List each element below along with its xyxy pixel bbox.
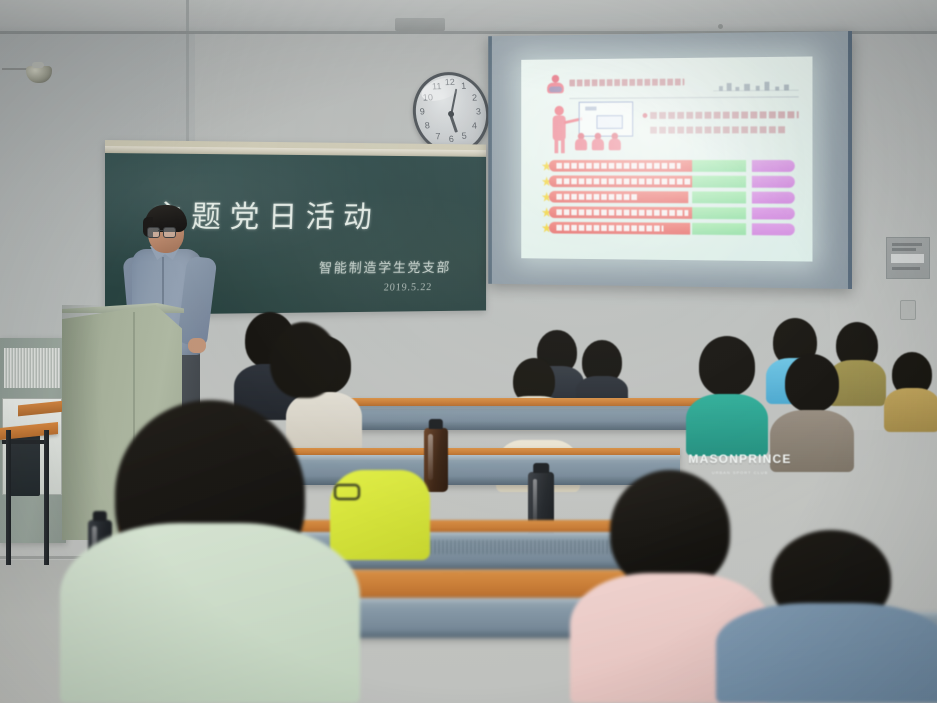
slide-body-paragraph [643, 110, 799, 138]
slide-bullet-icon [643, 113, 648, 118]
star-icon [542, 223, 552, 234]
slide-row [542, 191, 795, 204]
clock-numeral-7: 7 [435, 132, 441, 141]
projection-screen-surface [521, 56, 812, 261]
slide-bar-rows [542, 160, 795, 241]
blackboard-signature: 智能制造学生党支部 [318, 258, 451, 278]
slide-whiteboard-icon [579, 101, 633, 136]
ceiling-duct [395, 18, 445, 31]
wall-socket-icon [900, 300, 916, 320]
classroom-photo: 12 1 2 3 4 5 6 7 8 9 10 11 主题党日活动 智能制造学生… [0, 0, 937, 703]
projection-screen-surround [488, 31, 852, 289]
slide-body-line-2 [650, 126, 785, 133]
cabinet-vent [4, 348, 60, 388]
people-group-icon [547, 75, 564, 94]
student-mustard [884, 352, 937, 432]
clock-hour-hand [449, 115, 458, 133]
clock-numeral-8: 8 [425, 121, 431, 130]
clock-center-pin [448, 111, 454, 117]
star-icon [542, 207, 552, 218]
presentation-slide [534, 71, 799, 248]
student-teal-print [686, 336, 768, 456]
student-front-mint [60, 400, 360, 703]
clock-numeral-12: 12 [445, 78, 456, 87]
star-icon [542, 161, 552, 172]
slide-audience-icon [575, 133, 628, 151]
skyline-decoration-icon [713, 82, 798, 97]
presenter-glasses-icon [147, 227, 174, 236]
ceiling [0, 0, 937, 34]
presenter-right-hand [188, 338, 206, 353]
clock-numeral-5: 5 [461, 132, 467, 141]
slide-row [542, 160, 795, 172]
tshirt-print-masonprince: MASONPRINCE [688, 452, 791, 466]
clock-numeral-2: 2 [472, 94, 478, 103]
blackboard-date: 2019.5.22 [383, 281, 432, 293]
side-desk-leg [44, 430, 49, 565]
slide-row [542, 175, 795, 187]
clock-numeral-3: 3 [476, 107, 482, 116]
slide-row [542, 222, 795, 236]
clock-numeral-1: 1 [461, 82, 467, 91]
clock-numeral-4: 4 [472, 122, 478, 131]
wall-notice-panel [886, 237, 930, 279]
slide-divider [569, 96, 798, 99]
star-icon [542, 176, 552, 187]
clock-numeral-6: 6 [449, 135, 455, 144]
student-blue-tee [716, 530, 937, 703]
side-desk-leg [6, 430, 11, 565]
clock-numeral-11: 11 [432, 82, 442, 91]
clock-numeral-10: 10 [423, 93, 434, 102]
slide-header-title [569, 79, 684, 87]
ceiling-sensor-icon [718, 24, 723, 29]
star-icon [542, 192, 552, 203]
slide-body-line-1 [650, 111, 799, 119]
wall-lamp-icon [24, 62, 58, 84]
clock-numeral-9: 9 [420, 107, 426, 116]
speaker-figure-icon [547, 106, 584, 155]
slide-row [542, 206, 795, 219]
